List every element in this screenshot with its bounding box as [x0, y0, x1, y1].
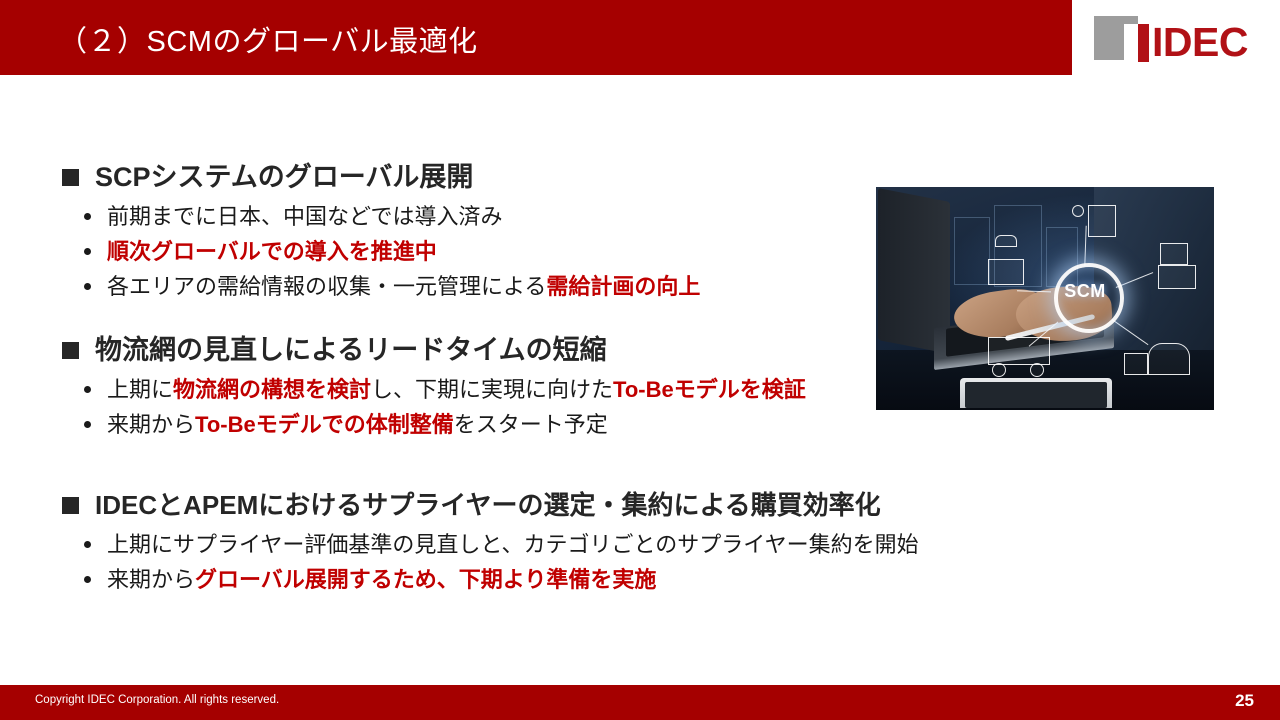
bullet-run-highlight: 順次グローバルでの導入を推進中 — [107, 239, 437, 264]
square-bullet-icon — [62, 169, 79, 186]
section-heading-1-label: SCPシステムのグローバル展開 — [95, 160, 473, 194]
content-section-1: SCPシステムのグローバル展開 前期までに日本、中国などでは導入済み 順次グロー… — [62, 160, 700, 304]
store-icon — [988, 259, 1024, 285]
bullet-run: 上期にサプライヤー評価基準の見直しと、カテゴリごとのサプライヤー集約を開始 — [107, 532, 919, 557]
bullet-list-3: 上期にサプライヤー評価基準の見直しと、カテゴリごとのサプライヤー集約を開始 来期… — [62, 527, 919, 597]
square-bullet-icon — [62, 497, 79, 514]
bullet-run: 前期までに日本、中国などでは導入済み — [107, 204, 503, 229]
bullet-list-2: 上期に物流網の構想を検討し、下期に実現に向けたTo-Beモデルを検証 来期からT… — [62, 372, 806, 442]
truck-wheel-icon — [992, 363, 1006, 377]
tablet-device — [960, 378, 1112, 408]
bullet-text: 上期に物流網の構想を検討し、下期に実現に向けたTo-Beモデルを検証 — [107, 372, 806, 407]
slide-body: SCPシステムのグローバル展開 前期までに日本、中国などでは導入済み 順次グロー… — [0, 75, 1280, 685]
warehouse-icon — [1148, 343, 1190, 375]
dot-bullet-icon — [84, 213, 91, 220]
list-item: 来期からグローバル展開するため、下期より準備を実施 — [84, 562, 919, 597]
bullet-text: 順次グローバルでの導入を推進中 — [107, 234, 437, 269]
bullet-run: 各エリアの需給情報の収集・一元管理による — [107, 274, 546, 299]
content-section-3: IDECとAPEMにおけるサプライヤーの選定・集約による購買効率化 上期にサプラ… — [62, 488, 919, 597]
airplane-icon — [995, 235, 1017, 247]
slide-header-bar: （２）SCMのグローバル最適化 IDEC — [0, 0, 1280, 75]
list-item: 各エリアの需給情報の収集・一元管理による需給計画の向上 — [84, 269, 700, 304]
list-item: 上期にサプライヤー評価基準の見直しと、カテゴリごとのサプライヤー集約を開始 — [84, 527, 919, 562]
bullet-list-1: 前期までに日本、中国などでは導入済み 順次グローバルでの導入を推進中 各エリアの… — [62, 199, 700, 304]
slide-footer-bar: Copyright IDEC Corporation. All rights r… — [0, 685, 1280, 720]
truck-wheel-icon — [1030, 363, 1044, 377]
bullet-run-highlight: グローバル展開するため、下期より準備を実施 — [195, 567, 656, 592]
dot-bullet-icon — [84, 421, 91, 428]
bullet-run: をスタート予定 — [454, 412, 608, 437]
bullet-run-highlight: To-Beモデルを検証 — [613, 377, 806, 402]
page-number: 25 — [1235, 691, 1254, 711]
factory-icon — [1158, 265, 1196, 289]
scm-illustration-image: SCM — [876, 187, 1214, 410]
dot-bullet-icon — [84, 283, 91, 290]
scm-center-label: SCM — [1054, 281, 1116, 302]
logo-wordmark: IDEC — [1152, 20, 1248, 64]
cloud-monitor-icon — [1160, 243, 1188, 265]
bullet-run-highlight: 物流網の構想を検討 — [173, 377, 371, 402]
truck-icon — [988, 337, 1050, 365]
skyline-building-icon — [954, 217, 990, 285]
section-heading-3: IDECとAPEMにおけるサプライヤーの選定・集約による購買効率化 — [62, 488, 919, 522]
section-heading-2: 物流網の見直しによるリードタイムの短縮 — [62, 333, 806, 367]
bullet-run-highlight: 需給計画の向上 — [546, 274, 700, 299]
dot-bullet-icon — [84, 541, 91, 548]
content-section-2: 物流網の見直しによるリードタイムの短縮 上期に物流網の構想を検討し、下期に実現に… — [62, 333, 806, 442]
bullet-text: 来期からTo-Beモデルでの体制整備をスタート予定 — [107, 407, 608, 442]
logo-white-gap-icon — [1124, 24, 1138, 62]
tablet-screen — [965, 382, 1107, 408]
bullet-run: 上期に — [107, 377, 173, 402]
bullet-text: 来期からグローバル展開するため、下期より準備を実施 — [107, 562, 656, 597]
logo-i-bar-icon — [1138, 24, 1149, 62]
dot-bullet-icon — [84, 386, 91, 393]
section-heading-3-label: IDECとAPEMにおけるサプライヤーの選定・集約による購買効率化 — [95, 488, 881, 522]
list-item: 上期に物流網の構想を検討し、下期に実現に向けたTo-Beモデルを検証 — [84, 372, 806, 407]
list-item: 来期からTo-Beモデルでの体制整備をスタート予定 — [84, 407, 806, 442]
list-item: 前期までに日本、中国などでは導入済み — [84, 199, 700, 234]
square-bullet-icon — [62, 342, 79, 359]
package-box-icon — [1124, 353, 1148, 375]
bullet-run: し、下期に実現に向けた — [371, 377, 613, 402]
copyright-text: Copyright IDEC Corporation. All rights r… — [35, 694, 279, 706]
person-head-icon — [1072, 205, 1084, 217]
list-item: 順次グローバルでの導入を推進中 — [84, 234, 700, 269]
idec-logo: IDEC — [1094, 14, 1264, 62]
bullet-text: 各エリアの需給情報の収集・一元管理による需給計画の向上 — [107, 269, 700, 304]
clipboard-icon — [1088, 205, 1116, 237]
page-title: （２）SCMのグローバル最適化 — [58, 18, 478, 60]
section-heading-2-label: 物流網の見直しによるリードタイムの短縮 — [95, 333, 607, 367]
dot-bullet-icon — [84, 248, 91, 255]
bullet-run: 来期から — [107, 412, 195, 437]
bullet-run: 来期から — [107, 567, 195, 592]
section-heading-1: SCPシステムのグローバル展開 — [62, 160, 700, 194]
bullet-text: 上期にサプライヤー評価基準の見直しと、カテゴリごとのサプライヤー集約を開始 — [107, 527, 919, 562]
dot-bullet-icon — [84, 576, 91, 583]
logo-panel: IDEC — [1072, 0, 1280, 75]
bullet-text: 前期までに日本、中国などでは導入済み — [107, 199, 503, 234]
bullet-run-highlight: To-Beモデルでの体制整備 — [195, 412, 454, 437]
